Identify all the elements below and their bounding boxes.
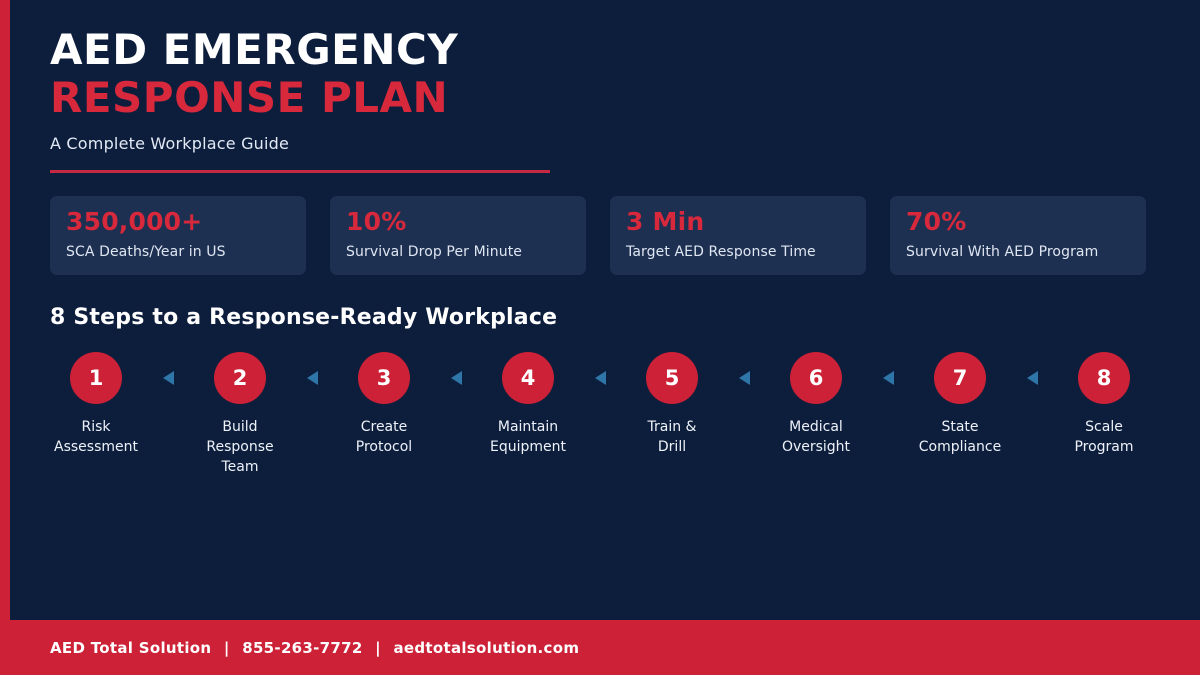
footer-separator: |	[368, 639, 388, 657]
footer-contact: AED Total Solution | 855-263-7772 | aedt…	[50, 639, 579, 657]
stat-label: Survival With AED Program	[906, 244, 1130, 260]
footer-separator: |	[217, 639, 237, 657]
step-number-badge: 2	[214, 352, 266, 404]
step-label: Scale Program	[1074, 418, 1133, 458]
step-label: Create Protocol	[356, 418, 412, 458]
step-number-badge: 4	[502, 352, 554, 404]
header-divider	[50, 170, 550, 173]
stat-label: Target AED Response Time	[626, 244, 850, 260]
step-connector-arrow	[286, 352, 338, 404]
stat-card: 10% Survival Drop Per Minute	[330, 196, 586, 275]
step-item: 3 Create Protocol	[338, 352, 430, 458]
step-connector-arrow	[862, 352, 914, 404]
page-title-line1: AED EMERGENCY	[50, 28, 1150, 72]
stat-card: 70% Survival With AED Program	[890, 196, 1146, 275]
left-accent-bar	[0, 0, 10, 620]
step-number-badge: 6	[790, 352, 842, 404]
step-connector-arrow	[718, 352, 770, 404]
stat-value: 3 Min	[626, 209, 850, 235]
arrow-left-icon	[883, 371, 894, 385]
stat-label: SCA Deaths/Year in US	[66, 244, 290, 260]
step-number-badge: 7	[934, 352, 986, 404]
step-label: Medical Oversight	[782, 418, 850, 458]
step-number-badge: 1	[70, 352, 122, 404]
step-connector-arrow	[1006, 352, 1058, 404]
footer-website[interactable]: aedtotalsolution.com	[393, 639, 579, 657]
stat-card: 3 Min Target AED Response Time	[610, 196, 866, 275]
arrow-left-icon	[307, 371, 318, 385]
arrow-left-icon	[739, 371, 750, 385]
arrow-left-icon	[595, 371, 606, 385]
step-connector-arrow	[142, 352, 194, 404]
step-label: State Compliance	[919, 418, 1001, 458]
stat-value: 350,000+	[66, 209, 290, 235]
step-item: 8 Scale Program	[1058, 352, 1150, 458]
stat-value: 70%	[906, 209, 1130, 235]
step-item: 2 Build Response Team	[194, 352, 286, 478]
stat-card: 350,000+ SCA Deaths/Year in US	[50, 196, 306, 275]
step-number-badge: 8	[1078, 352, 1130, 404]
stat-label: Survival Drop Per Minute	[346, 244, 570, 260]
stat-value: 10%	[346, 209, 570, 235]
step-item: 7 State Compliance	[914, 352, 1006, 458]
page-subtitle: A Complete Workplace Guide	[50, 134, 1150, 153]
steps-row: 1 Risk Assessment 2 Build Response Team …	[50, 352, 1150, 478]
step-item: 4 Maintain Equipment	[482, 352, 574, 458]
footer-company: AED Total Solution	[50, 639, 211, 657]
steps-section-heading: 8 Steps to a Response-Ready Workplace	[50, 305, 557, 330]
step-label: Maintain Equipment	[490, 418, 566, 458]
step-label: Risk Assessment	[54, 418, 138, 458]
arrow-left-icon	[1027, 371, 1038, 385]
step-label: Build Response Team	[194, 418, 286, 478]
stat-card-row: 350,000+ SCA Deaths/Year in US 10% Survi…	[50, 196, 1150, 275]
step-item: 5 Train & Drill	[626, 352, 718, 458]
page-title-line2: RESPONSE PLAN	[50, 76, 1150, 120]
step-item: 1 Risk Assessment	[50, 352, 142, 458]
step-connector-arrow	[430, 352, 482, 404]
header: AED EMERGENCY RESPONSE PLAN A Complete W…	[50, 28, 1150, 153]
footer-bar: AED Total Solution | 855-263-7772 | aedt…	[0, 620, 1200, 675]
step-number-badge: 3	[358, 352, 410, 404]
infographic-poster: AED EMERGENCY RESPONSE PLAN A Complete W…	[0, 0, 1200, 675]
step-number-badge: 5	[646, 352, 698, 404]
arrow-left-icon	[451, 371, 462, 385]
footer-phone[interactable]: 855-263-7772	[242, 639, 362, 657]
arrow-left-icon	[163, 371, 174, 385]
step-connector-arrow	[574, 352, 626, 404]
step-label: Train & Drill	[648, 418, 697, 458]
step-item: 6 Medical Oversight	[770, 352, 862, 458]
